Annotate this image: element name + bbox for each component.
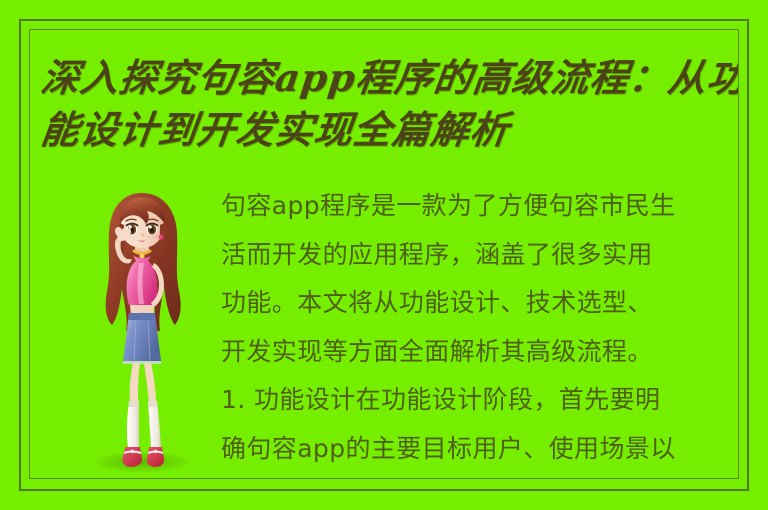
right-knee-sock [148,401,161,447]
right-thigh [144,363,156,403]
title-line-1: 深入探究句容app程序的高级流程：从功 [38,52,738,104]
right-earring [159,235,164,240]
skirt-waistband [128,313,156,320]
right-sock-cuff [148,401,158,407]
left-sock-cuff [129,401,139,407]
body-line-4: 开发实现等方面全面解析其高级流程。 [221,328,739,377]
title-line-2: 能设计到开发实现全篇解析 [38,104,738,156]
denim-mini-skirt [123,313,161,361]
body-line-2: 活而开发的应用程序，涵盖了很多实用 [221,231,739,280]
body-line-5: 1. 功能设计在功能设计阶段，首先要明 [221,376,739,425]
left-knee-sock [127,401,139,447]
article-body: 句容app程序是一款为了方便句容市民生 活而开发的应用程序，涵盖了很多实用 功能… [221,182,739,474]
chibi-girl-character-illustration [92,185,192,475]
choker-pendant [139,253,144,258]
poster-canvas: 深入探究句容app程序的高级流程：从功 能设计到开发实现全篇解析 [0,0,768,510]
body-line-6: 确句容app的主要目标用户、使用场景以 [221,425,739,474]
left-eye-glint [129,226,132,229]
body-line-1: 句容app程序是一款为了方便句容市民生 [221,182,739,231]
skirt-hem-fray [123,361,161,364]
left-thigh [130,363,140,403]
body-line-3: 功能。本文将从功能设计、技术选型、 [221,279,739,328]
left-shoe-button [131,450,134,453]
right-shoe-button [154,450,157,453]
right-eye-glint [149,226,152,229]
page-title: 深入探究句容app程序的高级流程：从功 能设计到开发实现全篇解析 [38,52,738,164]
